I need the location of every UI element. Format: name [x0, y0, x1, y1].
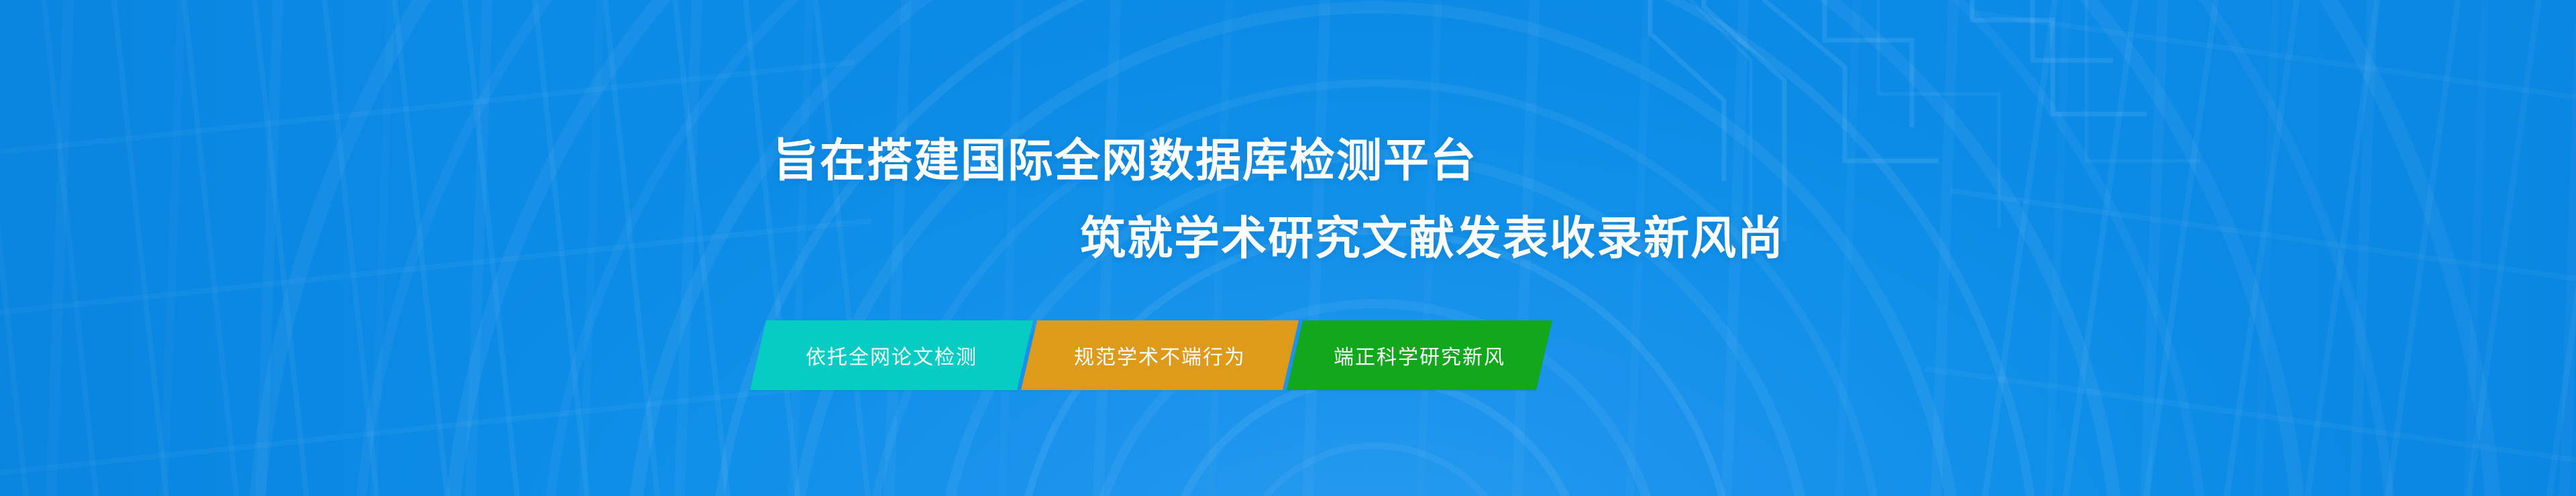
headline-line-1: 旨在搭建国际全网数据库检测平台: [773, 138, 1477, 184]
feature-tag-label: 依托全网论文检测: [806, 340, 977, 370]
feature-tag-label: 端正科学研究新风: [1334, 340, 1505, 370]
headline-line-2: 筑就学术研究文献发表收录新风尚: [1080, 216, 1784, 261]
feature-tag-label: 规范学术不端行为: [1074, 340, 1246, 370]
feature-tag-paper-detection[interactable]: 依托全网论文检测: [750, 320, 1033, 390]
feature-tag-research-integrity[interactable]: 端正科学研究新风: [1287, 320, 1552, 390]
banner-content: 旨在搭建国际全网数据库检测平台 筑就学术研究文献发表收录新风尚 依托全网论文检测…: [0, 0, 2576, 496]
hero-banner: 旨在搭建国际全网数据库检测平台 筑就学术研究文献发表收录新风尚 依托全网论文检测…: [0, 0, 2576, 496]
feature-tag-academic-misconduct[interactable]: 规范学术不端行为: [1021, 320, 1299, 390]
feature-tag-list: 依托全网论文检测 规范学术不端行为 端正科学研究新风: [758, 320, 1544, 390]
